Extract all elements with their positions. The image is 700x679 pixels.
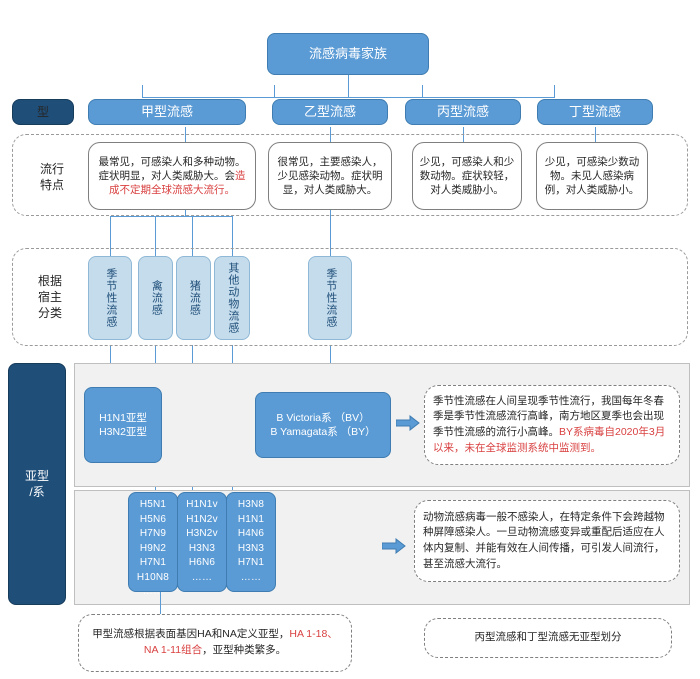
list-item: H6N6 [178,556,226,571]
list-item: H4N6 [227,527,275,542]
row-label-host: 根据 宿主 分类 [22,268,78,326]
callout-seasonal: 季节性流感在人间呈现季节性流行，我国每年冬春季是季节性流感流行高峰，南方地区夏季… [424,385,680,465]
connector-types-bus [142,97,554,98]
row-label-subtype: 亚型 /系 [8,363,66,605]
type-label-b: 乙型流感 [304,103,356,121]
subtype-a-label: H1N1亚型 H3N2亚型 [99,411,147,439]
callout-animal: 动物流感病毒一般不感染人，在特定条件下会跨越物种屏障感染人。一旦动物流感变异或重… [414,500,680,582]
host-node-other-animal[interactable]: 其他动物流感 [214,256,250,340]
type-node-b[interactable]: 乙型流感 [272,99,388,125]
feature-a-text: 最常见，可感染人和多种动物。症状明显，对人类威胁大。会 [99,156,246,182]
connector-type-a-up [142,85,143,98]
list-item: …… [227,571,275,586]
list-item: H9N2 [129,542,177,557]
root-node[interactable]: 流感病毒家族 [267,33,429,75]
feature-d-text: 少见，可感染少数动物。未见人感染病例，对人类威胁小。 [545,156,640,196]
host-label-3: 猪流感 [187,280,201,316]
list-item: H3N3 [178,542,226,557]
subtype-node-b-lineage[interactable]: B Victoria系 （BV） B Yamagata系 （BY） [255,392,391,458]
host-node-seasonal-b[interactable]: 季节性流感 [308,256,352,340]
list-item: H5N6 [129,513,177,528]
list-item: …… [129,585,177,600]
host-node-swine[interactable]: 猪流感 [176,256,211,340]
feature-node-a: 最常见，可感染人和多种动物。症状明显，对人类威胁大。会造成不定期全球流感大流行。 [88,142,256,210]
note-1-text-2: ，亚型种类繁多。 [202,644,286,656]
connector-type-d-up [554,85,555,98]
row-label-feature: 流行 特点 [22,155,82,199]
subtype-b-label: B Victoria系 （BV） B Yamagata系 （BY） [270,411,375,439]
list-item: H7N1 [227,556,275,571]
row-label-type-text: 型 [37,104,49,120]
type-node-a[interactable]: 甲型流感 [88,99,246,125]
feature-c-text: 少见，可感染人和少数动物。症状较轻，对人类威胁小。 [420,156,515,196]
list-item: H1N2v [178,513,226,528]
host-label-5: 季节性流感 [323,268,337,328]
row-label-type: 型 [12,99,74,125]
host-node-avian[interactable]: 禽流感 [138,256,173,340]
row-label-host-text: 根据 宿主 分类 [38,273,62,322]
list-item: …… [178,571,226,586]
type-node-c[interactable]: 丙型流感 [405,99,521,125]
subtype-list-avian[interactable]: H5N1 H5N6 H7N9 H9N2 H7N1 H10N8 …… [128,492,178,592]
note-2-text: 丙型流感和丁型流感无亚型划分 [475,630,622,646]
note-cd-no-subtype: 丙型流感和丁型流感无亚型划分 [424,618,672,658]
feature-node-c: 少见，可感染人和少数动物。症状较轻，对人类威胁小。 [412,142,522,210]
list-item: H3N2v [178,527,226,542]
feature-node-d: 少见，可感染少数动物。未见人感染病例，对人类威胁小。 [536,142,648,210]
feature-node-b: 很常见，主要感染人，少见感染动物。症状明显，对人类威胁大。 [268,142,392,210]
note-a-subtype: 甲型流感根据表面基因HA和NA定义亚型，HA 1-18、NA 1-11组合，亚型… [78,614,352,672]
diagram-canvas: 流感病毒家族 型 甲型流感 乙型流感 丙型流感 丁型流感 流行 特点 最常见，可… [0,0,700,679]
list-item: H1N1 [227,513,275,528]
row-label-subtype-text: 亚型 /系 [25,468,49,500]
root-label: 流感病毒家族 [309,45,387,63]
host-node-seasonal-a[interactable]: 季节性流感 [88,256,132,340]
right-arrow-icon-2 [382,538,406,554]
right-arrow-icon [396,415,420,431]
connector-note-a [160,592,161,614]
list-item: H5N1 [129,498,177,513]
list-item: H10N8 [129,571,177,586]
type-label-d: 丁型流感 [569,103,621,121]
subtype-node-a-human[interactable]: H1N1亚型 H3N2亚型 [84,387,162,463]
type-label-a: 甲型流感 [141,103,193,121]
list-item: H1N1v [178,498,226,513]
feature-b-text: 很常见，主要感染人，少见感染动物。症状明显，对人类威胁大。 [278,156,383,196]
connector-type-c-up [422,85,423,98]
type-node-d[interactable]: 丁型流感 [537,99,653,125]
list-item: H3N3 [227,542,275,557]
host-label-2: 禽流感 [149,280,163,316]
type-label-c: 丙型流感 [437,103,489,121]
host-label-4: 其他动物流感 [225,262,239,334]
subtype-list-other-animal[interactable]: H3N8 H1N1 H4N6 H3N3 H7N1 …… [226,492,276,592]
host-label-1: 季节性流感 [103,268,117,328]
connector-feature-a-bus [110,216,233,217]
list-item: H7N9 [129,527,177,542]
note-1-text: 甲型流感根据表面基因HA和NA定义亚型， [92,628,289,640]
connector-type-b-up [274,85,275,98]
row-label-feature-text: 流行 特点 [40,161,64,193]
callout-2-text: 动物流感病毒一般不感染人，在特定条件下会跨越物种屏障感染人。一旦动物流感变异或重… [423,511,665,570]
list-item: H7N1 [129,556,177,571]
subtype-list-swine[interactable]: H1N1v H1N2v H3N2v H3N3 H6N6 …… [177,492,227,592]
list-item: H3N8 [227,498,275,513]
connector-root-to-types [348,75,349,97]
